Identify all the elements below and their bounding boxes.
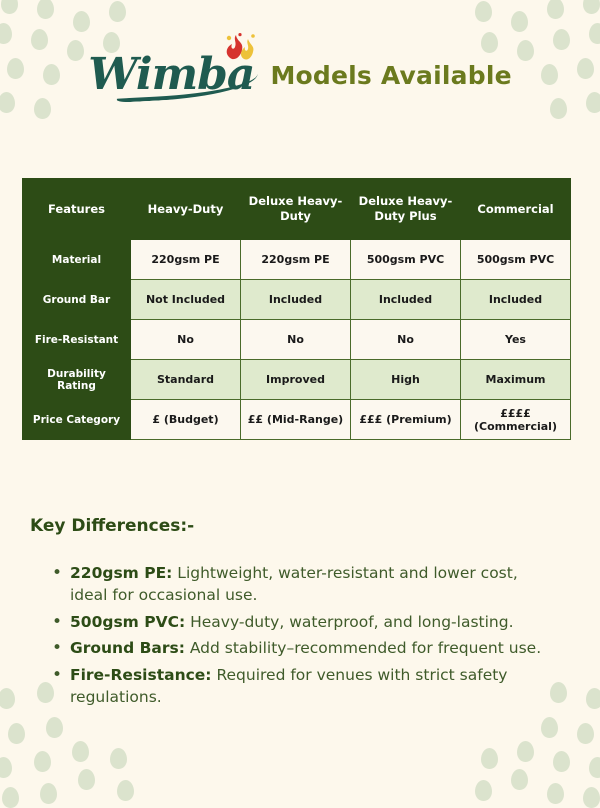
row-header-material: Material bbox=[23, 240, 131, 280]
cell-price-deluxe-heavy-duty: ££ (Mid-Range) bbox=[241, 400, 351, 440]
list-item-text: Add stability–recommended for frequent u… bbox=[185, 639, 541, 657]
table-row: Ground Bar Not Included Included Include… bbox=[23, 280, 571, 320]
row-header-price-category: Price Category bbox=[23, 400, 131, 440]
comparison-table-wrap: Features Heavy-Duty Deluxe Heavy-Duty De… bbox=[22, 178, 570, 440]
decorative-dot bbox=[2, 787, 19, 808]
decorative-dot bbox=[34, 751, 51, 772]
cell-durability-deluxe-heavy-duty-plus: High bbox=[351, 360, 461, 400]
table-row: Price Category £ (Budget) ££ (Mid-Range)… bbox=[23, 400, 571, 440]
brand-logo: Wimba bbox=[88, 53, 254, 97]
page-title: Models Available bbox=[270, 61, 511, 90]
column-header-heavy-duty: Heavy-Duty bbox=[131, 179, 241, 240]
row-header-fire-resistant: Fire-Resistant bbox=[23, 320, 131, 360]
cell-material-commercial: 500gsm PVC bbox=[461, 240, 571, 280]
list-item-lead: 500gsm PVC: bbox=[70, 613, 185, 631]
list-item-lead: Ground Bars: bbox=[70, 639, 185, 657]
decorative-dot bbox=[583, 787, 600, 808]
cell-material-heavy-duty: 220gsm PE bbox=[131, 240, 241, 280]
cell-fire-resistant-heavy-duty: No bbox=[131, 320, 241, 360]
decorative-dot bbox=[475, 780, 492, 801]
list-item: 220gsm PE: Lightweight, water-resistant … bbox=[56, 562, 560, 607]
list-item-lead: Fire-Resistance: bbox=[70, 666, 212, 684]
decorative-dot bbox=[553, 751, 570, 772]
cell-fire-resistant-deluxe-heavy-duty: No bbox=[241, 320, 351, 360]
list-item-text: Heavy-duty, waterproof, and long-lasting… bbox=[185, 613, 513, 631]
key-differences-title: Key Differences:- bbox=[30, 516, 560, 536]
decorative-dot bbox=[46, 717, 63, 738]
page-header: Wimba Models Available bbox=[0, 0, 600, 150]
list-item: Fire-Resistance: Required for venues wit… bbox=[56, 664, 560, 709]
cell-material-deluxe-heavy-duty: 220gsm PE bbox=[241, 240, 351, 280]
comparison-table: Features Heavy-Duty Deluxe Heavy-Duty De… bbox=[22, 178, 571, 440]
decorative-dot bbox=[547, 783, 564, 804]
decorative-dot bbox=[577, 723, 594, 744]
cell-material-deluxe-heavy-duty-plus: 500gsm PVC bbox=[351, 240, 461, 280]
decorative-dot bbox=[541, 717, 558, 738]
decorative-dot bbox=[586, 688, 600, 709]
row-header-durability-rating: Durability Rating bbox=[23, 360, 131, 400]
column-header-features: Features bbox=[23, 179, 131, 240]
decorative-dot bbox=[78, 769, 95, 790]
decorative-dot bbox=[589, 757, 600, 778]
table-row: Material 220gsm PE 220gsm PE 500gsm PVC … bbox=[23, 240, 571, 280]
flame-icon bbox=[220, 33, 258, 61]
decorative-dot bbox=[40, 783, 57, 804]
key-differences-section: Key Differences:- 220gsm PE: Lightweight… bbox=[30, 516, 560, 709]
column-header-deluxe-heavy-duty: Deluxe Heavy-Duty bbox=[241, 179, 351, 240]
decorative-dot bbox=[481, 748, 498, 769]
decorative-dot bbox=[0, 757, 12, 778]
table-header-row: Features Heavy-Duty Deluxe Heavy-Duty De… bbox=[23, 179, 571, 240]
decorative-dot bbox=[517, 741, 534, 762]
decorative-dot bbox=[511, 769, 528, 790]
cell-price-deluxe-heavy-duty-plus: £££ (Premium) bbox=[351, 400, 461, 440]
decorative-dot bbox=[110, 748, 127, 769]
row-header-ground-bar: Ground Bar bbox=[23, 280, 131, 320]
table-row: Durability Rating Standard Improved High… bbox=[23, 360, 571, 400]
cell-fire-resistant-deluxe-heavy-duty-plus: No bbox=[351, 320, 461, 360]
cell-durability-heavy-duty: Standard bbox=[131, 360, 241, 400]
key-differences-list: 220gsm PE: Lightweight, water-resistant … bbox=[30, 562, 560, 709]
cell-price-heavy-duty: £ (Budget) bbox=[131, 400, 241, 440]
decorative-dot bbox=[8, 723, 25, 744]
column-header-commercial: Commercial bbox=[461, 179, 571, 240]
cell-price-commercial: ££££ (Commercial) bbox=[461, 400, 571, 440]
decorative-dot bbox=[0, 688, 15, 709]
list-item: 500gsm PVC: Heavy-duty, waterproof, and … bbox=[56, 611, 560, 633]
list-item-lead: 220gsm PE: bbox=[70, 564, 172, 582]
cell-ground-bar-deluxe-heavy-duty: Included bbox=[241, 280, 351, 320]
cell-durability-deluxe-heavy-duty: Improved bbox=[241, 360, 351, 400]
cell-ground-bar-commercial: Included bbox=[461, 280, 571, 320]
cell-durability-commercial: Maximum bbox=[461, 360, 571, 400]
table-row: Fire-Resistant No No No Yes bbox=[23, 320, 571, 360]
column-header-deluxe-heavy-duty-plus: Deluxe Heavy-Duty Plus bbox=[351, 179, 461, 240]
cell-fire-resistant-commercial: Yes bbox=[461, 320, 571, 360]
decorative-dot bbox=[117, 780, 134, 801]
cell-ground-bar-heavy-duty: Not Included bbox=[131, 280, 241, 320]
list-item: Ground Bars: Add stability–recommended f… bbox=[56, 637, 560, 659]
decorative-dot bbox=[72, 741, 89, 762]
cell-ground-bar-deluxe-heavy-duty-plus: Included bbox=[351, 280, 461, 320]
